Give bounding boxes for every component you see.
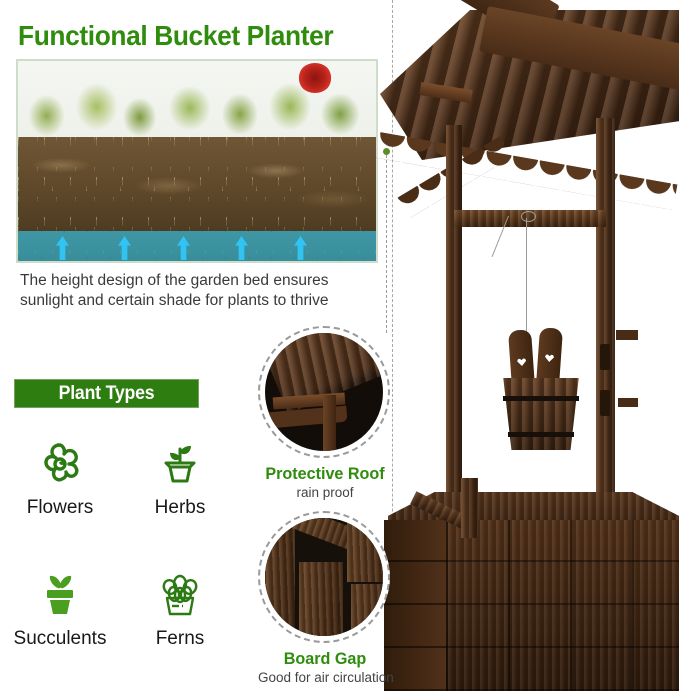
plant-type-label: Herbs xyxy=(155,497,206,519)
rope-knot xyxy=(521,211,536,222)
plant-types-grid: Flowers Herbs xyxy=(0,432,240,650)
callout-title: Protective Roof xyxy=(261,464,388,484)
callout-board-gap: Board Gap Good for air circulation xyxy=(258,511,392,685)
water-flow-arrow-icon xyxy=(118,236,131,260)
basin-corner-facet xyxy=(384,520,446,691)
water-layer xyxy=(18,231,376,263)
roof-callout-leader-line xyxy=(386,155,387,333)
water-flow-arrow-icon xyxy=(235,236,248,260)
support-post-lower xyxy=(461,478,478,538)
plant-types-banner: Plant Types xyxy=(14,379,199,408)
plant-type-ferns: Ferns xyxy=(120,563,240,650)
water-flow-arrow-icon xyxy=(294,236,307,260)
roof-closeup-photo xyxy=(265,333,383,451)
bucket-metal-band xyxy=(503,396,579,401)
roof-callout-anchor-dot xyxy=(383,148,390,155)
plants-layer xyxy=(18,61,376,137)
callout-title: Board Gap xyxy=(261,649,388,669)
potted-seedling-outline-icon xyxy=(154,432,206,494)
garden-bed-photo xyxy=(16,59,378,263)
support-post-left xyxy=(446,125,462,525)
board-plank xyxy=(265,526,295,636)
flower-outline-icon xyxy=(32,432,88,494)
side-plank xyxy=(616,330,638,340)
soil-layer xyxy=(18,137,376,231)
callout-protective-roof: Protective Roof rain proof xyxy=(258,326,392,500)
plant-type-flowers: Flowers xyxy=(0,432,120,519)
plant-type-label: Succulents xyxy=(14,628,107,650)
board-plank xyxy=(347,520,383,582)
callout-circle xyxy=(258,511,390,643)
board-gap-closeup-photo xyxy=(265,518,383,636)
plant-types-row: Flowers Herbs xyxy=(0,432,240,519)
plant-type-label: Ferns xyxy=(156,628,205,650)
heart-cutout-icon xyxy=(517,358,527,367)
potted-fern-outline-icon xyxy=(154,563,206,625)
heart-cutout-icon xyxy=(545,354,555,363)
page-title: Functional Bucket Planter xyxy=(18,20,333,52)
board-plank xyxy=(299,602,339,636)
metal-bracket xyxy=(600,390,610,416)
plant-type-label: Flowers xyxy=(27,497,94,519)
plant-types-banner-label: Plant Types xyxy=(59,383,155,405)
roof-post xyxy=(323,395,336,451)
plant-types-row: Succulents xyxy=(0,563,240,650)
board-plank xyxy=(351,584,383,636)
bucket-handle-right xyxy=(536,327,563,386)
callout-subtitle: Good for air circulation xyxy=(258,670,392,685)
water-flow-arrow-icon xyxy=(177,236,190,260)
plant-type-succulents: Succulents xyxy=(0,563,120,650)
potted-succulent-filled-icon xyxy=(34,563,86,625)
plant-type-herbs: Herbs xyxy=(120,432,240,519)
hanging-bucket xyxy=(500,378,582,450)
water-flow-arrow-icon xyxy=(56,236,69,260)
callout-subtitle: rain proof xyxy=(258,485,392,500)
metal-bracket xyxy=(600,344,610,370)
product-photo xyxy=(358,0,679,691)
support-post-right xyxy=(596,118,615,518)
hanging-rope xyxy=(526,218,527,338)
garden-bed-caption: The height design of the garden bed ensu… xyxy=(20,271,380,311)
bucket-metal-band xyxy=(508,432,574,437)
side-plank xyxy=(618,398,638,407)
callout-circle xyxy=(258,326,390,458)
